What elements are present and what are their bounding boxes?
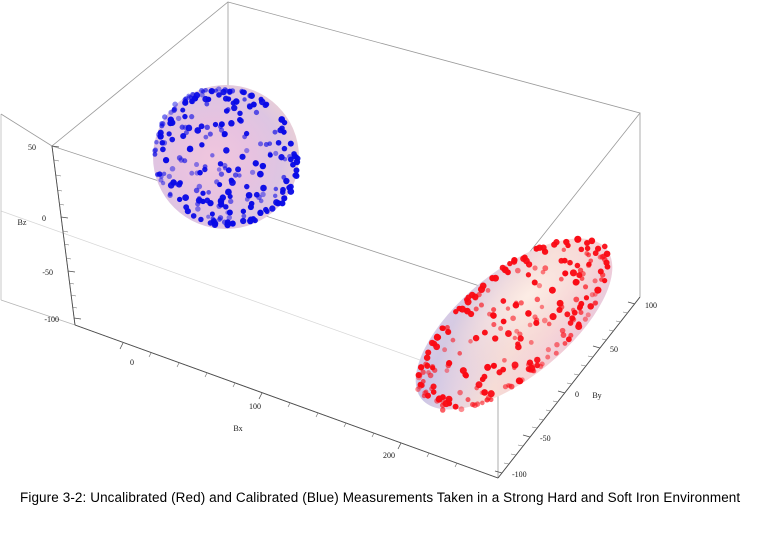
calibrated-data-point xyxy=(291,151,297,157)
calibrated-data-point xyxy=(269,205,275,211)
calibrated-data-point xyxy=(267,141,272,146)
uncalibrated-data-point xyxy=(561,332,567,338)
uncalibrated-data-point xyxy=(562,270,568,276)
calibrated-data-point xyxy=(214,179,219,184)
uncalibrated-data-point xyxy=(475,401,480,406)
uncalibrated-data-point xyxy=(570,269,577,276)
uncalibrated-data-point xyxy=(457,390,463,396)
calibrated-data-point xyxy=(223,204,228,209)
calibrated-data-point xyxy=(199,88,204,93)
by-tick-label: -50 xyxy=(540,434,551,443)
uncalibrated-data-point xyxy=(428,373,434,379)
uncalibrated-data-point xyxy=(575,263,581,269)
by-tick-label: 100 xyxy=(645,301,657,310)
uncalibrated-data-point xyxy=(526,261,532,267)
uncalibrated-data-point xyxy=(535,297,541,303)
calibrated-data-point xyxy=(229,178,235,184)
calibrated-data-point xyxy=(257,171,264,178)
uncalibrated-data-point xyxy=(551,242,557,248)
calibrated-data-point xyxy=(202,167,207,172)
uncalibrated-data-point xyxy=(534,363,540,369)
uncalibrated-data-point xyxy=(525,310,532,317)
calibrated-data-point xyxy=(217,167,222,172)
uncalibrated-data-point xyxy=(549,313,556,320)
calibrated-data-point xyxy=(258,141,263,146)
uncalibrated-data-point xyxy=(482,330,488,336)
uncalibrated-data-point xyxy=(436,395,443,402)
uncalibrated-data-point xyxy=(565,243,570,248)
uncalibrated-data-point xyxy=(445,368,450,373)
calibrated-data-point xyxy=(176,116,181,121)
uncalibrated-data-point xyxy=(532,265,537,270)
uncalibrated-data-point xyxy=(583,317,588,322)
calibrated-data-point xyxy=(159,121,164,126)
calibrated-data-point xyxy=(273,194,277,198)
uncalibrated-data-point xyxy=(554,342,559,347)
calibrated-data-point xyxy=(231,101,236,106)
uncalibrated-data-point xyxy=(578,310,583,315)
calibrated-data-point xyxy=(259,97,264,102)
calibrated-data-point xyxy=(254,110,259,115)
calibrated-data-point xyxy=(239,154,245,160)
uncalibrated-data-point xyxy=(447,401,452,406)
uncalibrated-data-point xyxy=(501,298,507,304)
uncalibrated-data-point xyxy=(432,368,437,373)
uncalibrated-data-point xyxy=(572,310,578,316)
bx-tick-label: 0 xyxy=(130,358,134,367)
uncalibrated-data-point xyxy=(486,288,491,293)
calibrated-data-point xyxy=(247,218,253,224)
calibrated-data-point xyxy=(186,125,193,132)
calibrated-data-point xyxy=(218,124,223,129)
calibrated-data-point xyxy=(169,119,176,126)
calibrated-data-point xyxy=(195,201,200,206)
uncalibrated-data-point xyxy=(511,259,517,265)
calibrated-data-point xyxy=(288,141,294,147)
uncalibrated-data-point xyxy=(487,312,492,317)
calibrated-data-point xyxy=(231,105,237,111)
calibrated-data-point xyxy=(182,114,187,119)
uncalibrated-data-point xyxy=(532,314,537,319)
uncalibrated-data-point xyxy=(605,264,611,270)
calibrated-data-point xyxy=(182,194,189,201)
calibrated-data-point xyxy=(205,125,210,130)
uncalibrated-data-point xyxy=(513,336,517,340)
uncalibrated-data-point xyxy=(571,317,577,323)
calibrated-data-point xyxy=(237,173,241,177)
uncalibrated-data-point xyxy=(602,244,608,250)
calibrated-data-point xyxy=(190,92,195,97)
uncalibrated-data-point xyxy=(439,325,445,331)
calibrated-data-point xyxy=(227,210,233,216)
calibrated-data-point xyxy=(162,114,167,119)
calibrated-data-point xyxy=(277,127,283,133)
calibrated-data-point xyxy=(281,195,287,201)
uncalibrated-data-point xyxy=(522,254,528,260)
calibrated-data-point xyxy=(212,221,218,227)
calibrated-data-point xyxy=(228,120,234,126)
calibrated-data-point xyxy=(251,102,257,108)
calibrated-data-point xyxy=(278,116,285,123)
calibrated-data-point xyxy=(180,133,186,139)
uncalibrated-data-point xyxy=(501,319,507,325)
calibrated-data-point xyxy=(223,147,229,153)
uncalibrated-data-point xyxy=(498,326,503,331)
calibrated-data-point xyxy=(180,125,185,130)
calibrated-data-point xyxy=(207,200,213,206)
uncalibrated-data-point xyxy=(517,332,522,337)
uncalibrated-data-point xyxy=(489,275,495,281)
calibrated-data-point xyxy=(222,87,227,92)
calibrated-data-point xyxy=(170,166,176,172)
calibrated-data-point xyxy=(167,193,172,198)
uncalibrated-data-point xyxy=(507,383,512,388)
axis-title-by: By xyxy=(592,391,601,400)
calibrated-data-point xyxy=(278,154,284,160)
calibrated-data-point xyxy=(227,215,232,220)
calibrated-data-point xyxy=(228,199,233,204)
calibrated-data-point xyxy=(194,127,201,134)
calibrated-data-point xyxy=(159,178,164,183)
uncalibrated-data-point xyxy=(459,306,466,313)
uncalibrated-data-point xyxy=(474,307,479,312)
uncalibrated-data-point xyxy=(418,364,424,370)
calibrated-data-point xyxy=(222,131,228,137)
calibrated-data-point xyxy=(160,147,166,153)
uncalibrated-data-point xyxy=(526,272,531,277)
uncalibrated-data-point xyxy=(510,315,516,321)
bz-tick-label: 0 xyxy=(42,214,46,223)
calibrated-data-point xyxy=(182,100,188,106)
bx-tick-label: 100 xyxy=(249,402,261,411)
uncalibrated-data-point xyxy=(457,351,462,356)
uncalibrated-data-point xyxy=(434,334,440,340)
calibrated-data-point xyxy=(241,209,246,214)
uncalibrated-data-point xyxy=(584,240,590,246)
calibrated-data-point xyxy=(246,192,253,199)
calibrated-data-point xyxy=(197,196,202,201)
uncalibrated-data-point xyxy=(557,300,564,307)
bounding-box xyxy=(1,2,640,478)
uncalibrated-data-point xyxy=(515,268,521,274)
uncalibrated-data-point xyxy=(459,406,465,412)
uncalibrated-data-point xyxy=(584,295,589,300)
uncalibrated-data-point xyxy=(586,312,591,317)
uncalibrated-data-point xyxy=(593,278,598,283)
uncalibrated-data-point xyxy=(575,279,580,284)
uncalibrated-data-point xyxy=(563,341,568,346)
calibrated-sphere-group xyxy=(152,85,300,229)
calibrated-data-point xyxy=(160,140,166,146)
calibrated-data-point xyxy=(260,185,267,192)
uncalibrated-data-point xyxy=(573,297,579,303)
uncalibrated-data-point xyxy=(505,330,512,337)
calibrated-data-point xyxy=(274,187,278,191)
uncalibrated-data-point xyxy=(585,246,590,251)
calibrated-data-point xyxy=(154,140,158,144)
uncalibrated-data-point xyxy=(577,304,583,310)
uncalibrated-data-point xyxy=(484,364,491,371)
uncalibrated-data-point xyxy=(556,307,562,313)
calibrated-data-point xyxy=(189,114,194,119)
calibrated-data-point xyxy=(163,157,169,163)
calibrated-data-point xyxy=(260,163,266,169)
calibrated-data-point xyxy=(210,211,215,216)
uncalibrated-data-point xyxy=(559,258,565,264)
calibrated-data-point xyxy=(182,158,187,163)
uncalibrated-data-point xyxy=(470,402,475,407)
calibrated-data-point xyxy=(203,135,208,140)
uncalibrated-data-point xyxy=(540,361,545,366)
uncalibrated-data-point xyxy=(446,360,452,366)
uncalibrated-data-point xyxy=(505,269,511,275)
calibrated-data-point xyxy=(295,156,300,161)
calibrated-data-point xyxy=(276,140,282,146)
uncalibrated-data-point xyxy=(549,287,556,294)
calibrated-data-point xyxy=(206,97,212,103)
uncalibrated-data-point xyxy=(519,300,524,305)
calibrated-data-point xyxy=(280,187,286,193)
uncalibrated-data-point xyxy=(473,335,479,341)
calibrated-data-point xyxy=(197,184,203,190)
calibrated-data-point xyxy=(273,130,278,135)
uncalibrated-data-point xyxy=(469,292,476,299)
uncalibrated-data-point xyxy=(441,400,447,406)
uncalibrated-ellipsoid-group xyxy=(388,208,640,440)
uncalibrated-data-point xyxy=(433,343,440,350)
uncalibrated-data-point xyxy=(491,322,496,327)
calibrated-data-point xyxy=(242,97,246,101)
calibrated-data-point xyxy=(186,94,190,98)
calibrated-data-point xyxy=(187,146,194,153)
calibrated-data-point xyxy=(167,131,172,136)
calibrated-data-point xyxy=(226,107,231,112)
by-tick-label: 0 xyxy=(575,390,579,399)
calibrated-data-point xyxy=(244,184,249,189)
uncalibrated-data-point xyxy=(579,247,585,253)
calibrated-data-point xyxy=(230,220,236,226)
calibrated-data-point xyxy=(281,175,286,180)
uncalibrated-data-point xyxy=(540,305,544,309)
uncalibrated-data-point xyxy=(491,363,497,369)
calibrated-data-point xyxy=(195,206,201,212)
calibrated-data-point xyxy=(240,218,246,224)
calibrated-data-point xyxy=(240,89,245,94)
calibrated-data-point xyxy=(210,153,214,157)
uncalibrated-data-point xyxy=(491,307,496,312)
uncalibrated-data-point xyxy=(600,272,605,277)
uncalibrated-data-point xyxy=(533,246,539,252)
uncalibrated-data-point xyxy=(534,357,540,363)
calibrated-data-point xyxy=(292,173,297,178)
calibrated-data-point xyxy=(244,148,249,153)
uncalibrated-data-point xyxy=(466,397,471,402)
calibrated-data-point xyxy=(223,166,227,170)
calibrated-data-point xyxy=(260,192,265,197)
calibrated-data-point xyxy=(153,152,158,157)
uncalibrated-data-point xyxy=(529,340,534,345)
calibrated-data-point xyxy=(253,160,259,166)
uncalibrated-data-point xyxy=(492,335,498,341)
uncalibrated-data-point xyxy=(463,373,469,379)
calibrated-data-point xyxy=(222,219,227,224)
calibrated-data-point xyxy=(177,155,183,161)
calibrated-data-point xyxy=(214,89,218,93)
calibrated-data-point xyxy=(287,154,292,159)
calibrated-data-point xyxy=(290,162,296,168)
calibrated-data-point xyxy=(218,215,223,220)
calibrated-data-point xyxy=(170,179,176,185)
bz-tick-label: 50 xyxy=(28,143,36,152)
uncalibrated-data-point xyxy=(583,284,588,289)
uncalibrated-data-point xyxy=(593,250,599,256)
calibrated-data-point xyxy=(180,108,185,113)
calibrated-data-point xyxy=(206,190,211,195)
calibrated-data-point xyxy=(208,131,213,136)
calibrated-data-point xyxy=(241,214,246,219)
uncalibrated-data-point xyxy=(503,384,508,389)
uncalibrated-data-point xyxy=(418,382,424,388)
calibrated-data-point xyxy=(244,131,249,136)
uncalibrated-data-point xyxy=(559,277,564,282)
uncalibrated-data-point xyxy=(574,236,581,243)
calibrated-data-point xyxy=(169,137,175,143)
calibrated-data-point xyxy=(176,182,182,188)
calibrated-data-point xyxy=(208,89,212,93)
uncalibrated-data-point xyxy=(528,323,533,328)
uncalibrated-data-point xyxy=(480,401,485,406)
calibrated-data-point xyxy=(216,92,222,98)
uncalibrated-data-point xyxy=(480,282,487,289)
uncalibrated-data-point xyxy=(562,248,566,252)
calibrated-data-point xyxy=(155,172,159,176)
axis-bz: 50 0 -50 -100 Bz xyxy=(18,143,81,325)
figure-caption: Figure 3-2: Uncalibrated (Red) and Calib… xyxy=(20,488,760,507)
uncalibrated-data-point xyxy=(512,362,519,369)
uncalibrated-data-point xyxy=(440,407,445,412)
uncalibrated-data-point xyxy=(416,375,422,381)
uncalibrated-data-point xyxy=(532,279,538,285)
calibrated-data-point xyxy=(268,152,273,157)
uncalibrated-data-point xyxy=(580,271,585,276)
uncalibrated-data-point xyxy=(564,311,570,317)
uncalibrated-data-point xyxy=(496,369,502,375)
uncalibrated-data-point xyxy=(528,365,535,372)
calibrated-data-point xyxy=(156,132,161,137)
uncalibrated-data-point xyxy=(537,283,542,288)
calibrated-data-point xyxy=(189,171,194,176)
uncalibrated-data-point xyxy=(586,262,591,267)
calibrated-data-point xyxy=(195,171,200,176)
calibrated-data-point xyxy=(198,217,203,222)
uncalibrated-data-point xyxy=(479,303,484,308)
calibrated-data-point xyxy=(199,142,204,147)
uncalibrated-data-point xyxy=(480,376,486,382)
calibrated-data-point xyxy=(177,197,182,202)
calibrated-data-point xyxy=(237,118,242,123)
uncalibrated-data-point xyxy=(587,303,594,310)
uncalibrated-data-point xyxy=(584,251,589,256)
uncalibrated-data-point xyxy=(451,338,456,343)
calibrated-data-point xyxy=(250,170,255,175)
uncalibrated-data-point xyxy=(604,251,611,258)
calibrated-data-point xyxy=(257,210,263,216)
calibrated-data-point xyxy=(273,151,278,156)
uncalibrated-data-point xyxy=(554,351,559,356)
uncalibrated-data-point xyxy=(481,389,488,396)
uncalibrated-data-point xyxy=(594,287,601,294)
uncalibrated-data-point xyxy=(542,249,548,255)
calibrated-data-point xyxy=(282,146,288,152)
uncalibrated-data-point xyxy=(542,318,548,324)
uncalibrated-data-point xyxy=(514,301,519,306)
calibrated-data-point xyxy=(227,89,232,94)
uncalibrated-data-point xyxy=(445,325,450,330)
scatter-plot-3d: 50 0 -50 -100 Bz xyxy=(0,0,777,485)
axis-title-bz: Bz xyxy=(18,218,27,227)
calibrated-data-point xyxy=(191,213,197,219)
uncalibrated-data-point xyxy=(502,358,507,363)
figure-page: 50 0 -50 -100 Bz xyxy=(0,0,777,545)
uncalibrated-data-point xyxy=(424,390,429,395)
uncalibrated-data-point xyxy=(423,361,428,366)
calibrated-data-point xyxy=(237,111,242,116)
calibrated-data-point xyxy=(248,92,254,98)
uncalibrated-data-point xyxy=(486,395,492,401)
calibrated-data-point xyxy=(235,166,241,172)
by-tick-label: -100 xyxy=(512,470,527,479)
bz-tick-label: -100 xyxy=(44,315,59,324)
calibrated-data-point xyxy=(183,204,189,210)
uncalibrated-data-point xyxy=(533,320,539,326)
uncalibrated-data-point xyxy=(590,292,595,297)
uncalibrated-data-point xyxy=(468,339,473,344)
calibrated-data-point xyxy=(219,172,224,177)
uncalibrated-data-point xyxy=(424,354,431,361)
calibrated-data-point xyxy=(206,215,210,219)
bz-tick-label: -50 xyxy=(42,268,53,277)
uncalibrated-data-point xyxy=(425,349,431,355)
uncalibrated-data-point xyxy=(506,306,510,310)
uncalibrated-data-point xyxy=(465,298,472,305)
calibrated-data-point xyxy=(248,204,254,210)
uncalibrated-data-point xyxy=(546,347,551,352)
calibrated-data-point xyxy=(172,107,176,111)
uncalibrated-data-point xyxy=(500,265,506,271)
uncalibrated-data-point xyxy=(568,333,573,338)
uncalibrated-data-point xyxy=(474,386,479,391)
by-tick-label: 50 xyxy=(610,345,618,354)
uncalibrated-data-point xyxy=(602,257,608,263)
calibrated-data-point xyxy=(194,162,199,167)
uncalibrated-data-point xyxy=(541,270,546,275)
calibrated-data-point xyxy=(213,122,218,127)
uncalibrated-data-point xyxy=(545,355,550,360)
calibrated-data-point xyxy=(226,96,231,101)
calibrated-data-point xyxy=(225,189,232,196)
calibrated-data-point xyxy=(162,172,166,176)
uncalibrated-data-point xyxy=(515,341,520,346)
uncalibrated-data-point xyxy=(602,278,607,283)
calibrated-data-point xyxy=(264,209,269,214)
calibrated-data-point xyxy=(259,199,264,204)
uncalibrated-data-point xyxy=(576,321,581,326)
bx-tick-label: 200 xyxy=(383,451,395,460)
uncalibrated-data-point xyxy=(520,377,525,382)
plot-figure: 50 0 -50 -100 Bz xyxy=(0,0,777,485)
axis-title-bx: Bx xyxy=(233,424,242,433)
uncalibrated-data-point xyxy=(442,347,447,352)
